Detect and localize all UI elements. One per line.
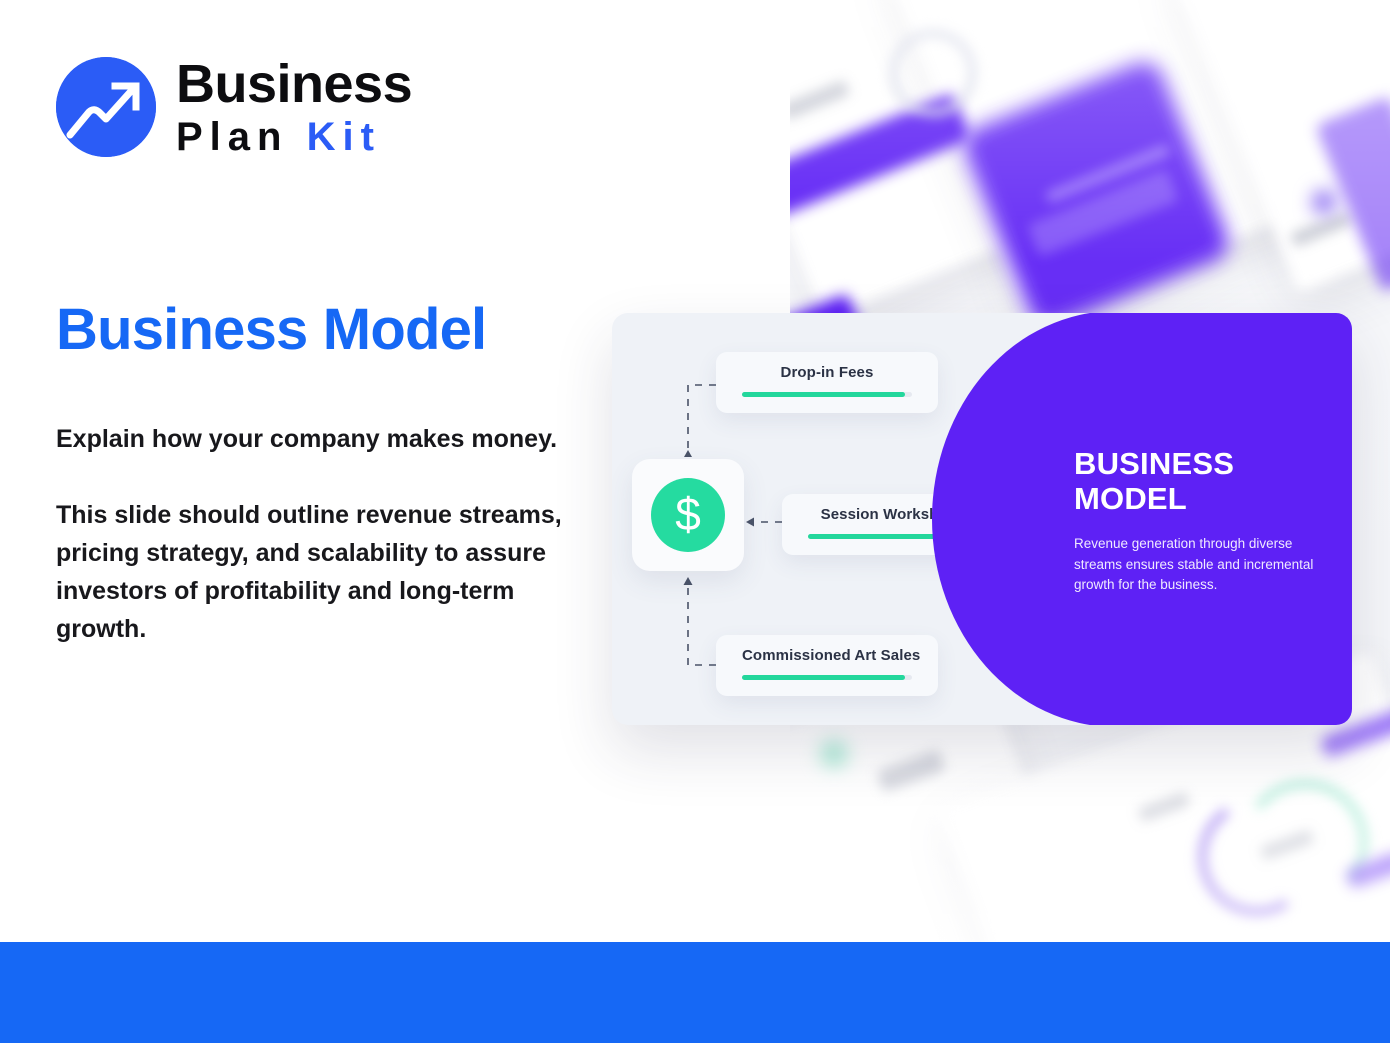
footer-bar: [0, 942, 1390, 1043]
revenue-center-node: $: [632, 459, 744, 571]
svg-text:$: $: [675, 489, 701, 540]
bg-dot: [1312, 190, 1336, 214]
stream-progress-fill: [742, 675, 905, 680]
panel-title: BUSINESS MODEL: [1074, 447, 1326, 516]
bg-purple-card: [958, 56, 1234, 332]
bg-text-block: [1259, 829, 1315, 861]
slide-preview-card[interactable]: $ Drop-in Fees Session Workshops Commiss…: [612, 313, 1352, 725]
logo-wordmark-line2: Plan Kit: [176, 115, 412, 159]
bg-purple-block: [790, 92, 972, 217]
bg-purple-block: [1344, 850, 1390, 889]
stream-card[interactable]: Commissioned Art Sales: [716, 635, 938, 696]
bg-text-block: [790, 79, 850, 120]
growth-arrow-icon: [56, 57, 156, 157]
dollar-sign-icon: $: [651, 478, 725, 552]
stream-label: Commissioned Art Sales: [742, 647, 912, 664]
bg-text-block: [1290, 211, 1353, 247]
stream-label: Drop-in Fees: [742, 364, 912, 381]
page-title: Business Model: [56, 296, 486, 363]
stream-progress-fill: [742, 392, 905, 397]
bg-donut-chart: [1187, 787, 1327, 927]
bg-slide-mock: [878, 0, 1362, 323]
bg-slide-mock: [1163, 0, 1390, 293]
bg-donut-chart: [1234, 772, 1376, 914]
bg-text-block: [876, 749, 946, 792]
stream-progress-track: [742, 675, 912, 680]
bg-text-block: [1137, 792, 1191, 823]
stream-card[interactable]: Drop-in Fees: [716, 352, 938, 413]
page-body-copy: Explain how your company makes money. Th…: [56, 420, 576, 648]
panel-description: Revenue generation through diverse strea…: [1074, 534, 1326, 596]
bg-slide-mock: [790, 0, 1130, 320]
logo-word-plan: Plan: [176, 115, 288, 159]
logo-word-kit: Kit: [307, 115, 381, 159]
body-paragraph-2: This slide should outline revenue stream…: [56, 496, 576, 648]
bg-ring: [877, 17, 989, 129]
bg-purple-block: [1315, 96, 1390, 293]
business-model-panel: BUSINESS MODEL Revenue generation throug…: [932, 313, 1352, 725]
body-paragraph-1: Explain how your company makes money.: [56, 420, 576, 458]
bg-text-block: [1045, 144, 1172, 204]
stream-progress-track: [742, 392, 912, 397]
bg-text-block: [1027, 169, 1179, 257]
logo-wordmark-line1: Business: [176, 57, 412, 112]
bg-dot: [820, 740, 848, 768]
brand-logo: Business Plan Kit: [56, 55, 412, 159]
